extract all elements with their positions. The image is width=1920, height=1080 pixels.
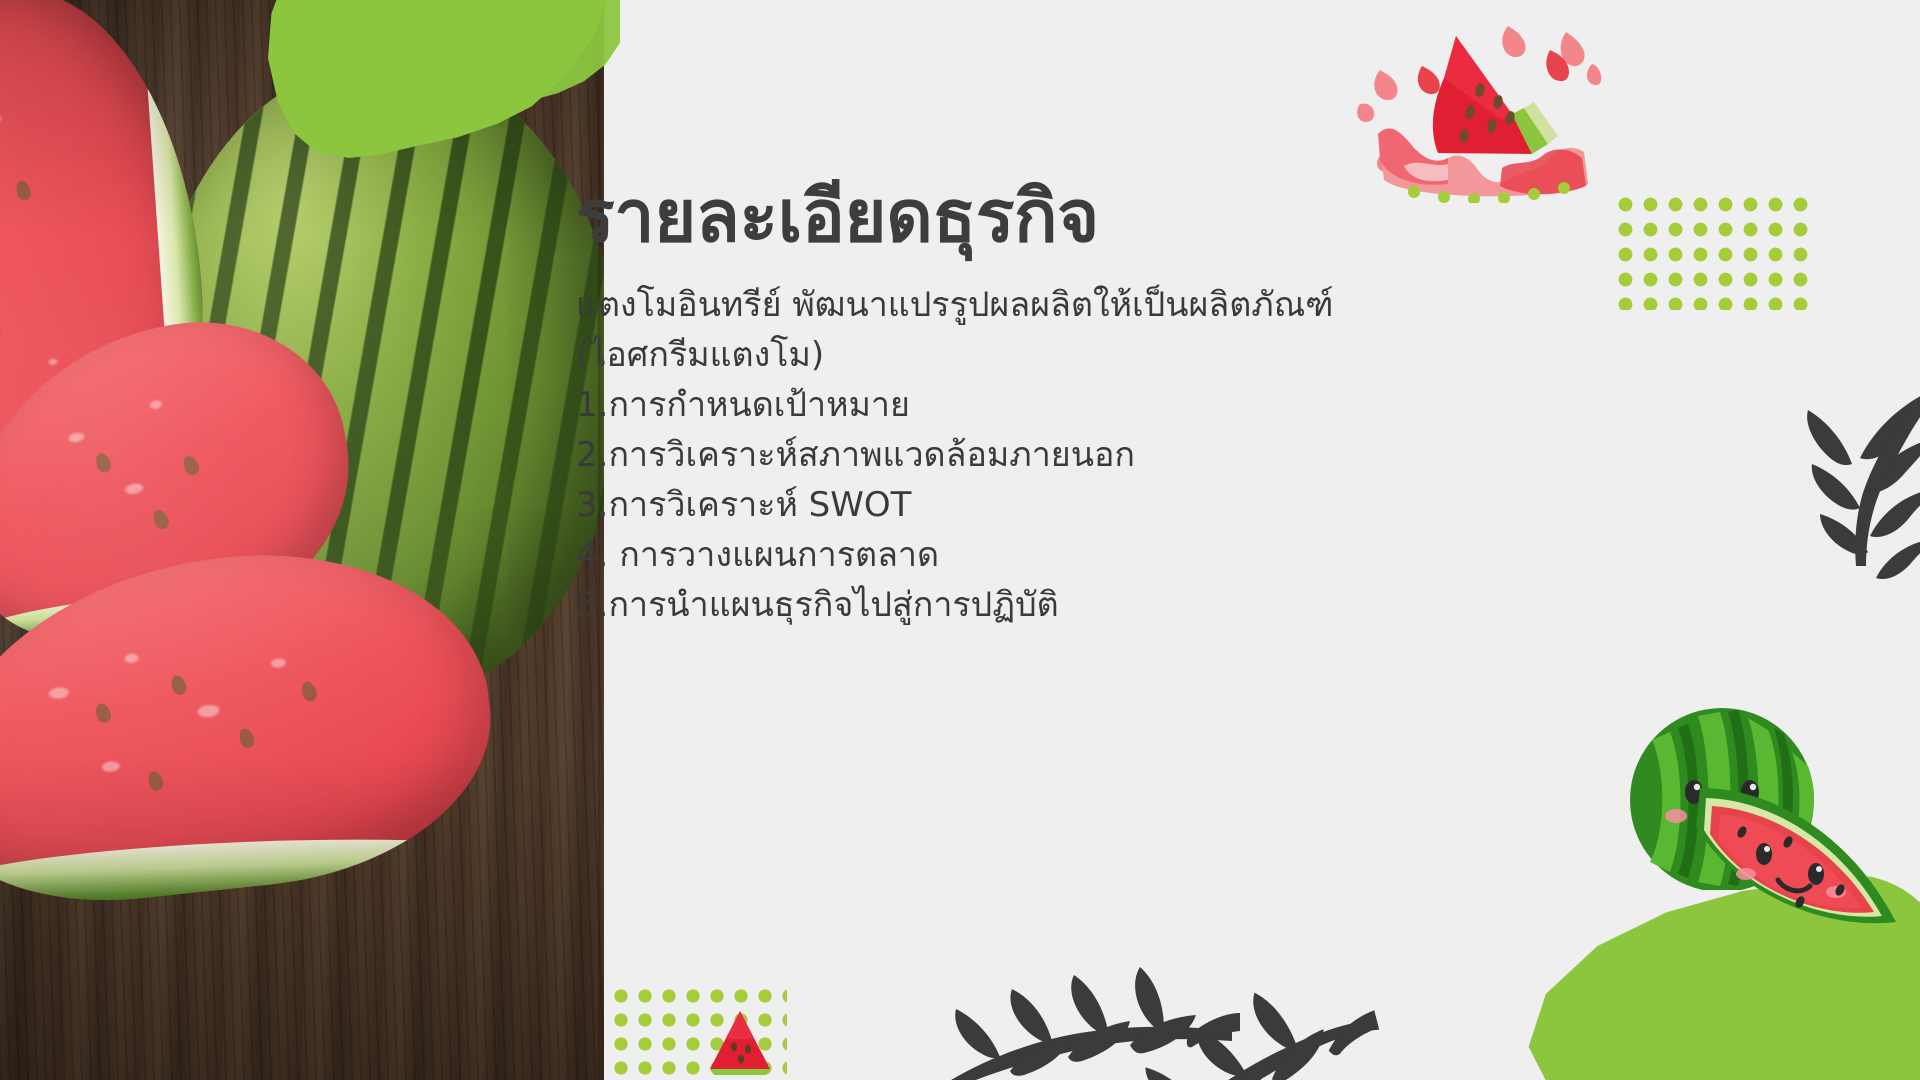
halftone-dot-grid-top-right [1613, 192, 1813, 310]
leaf-silhouette-right [1778, 386, 1920, 606]
watermelon-photo [0, 0, 604, 1080]
body-line: 2.การวิเคราะห์สภาพแวดล้อมภายนอก [576, 430, 1576, 480]
body-text-block: แตงโมอินทรีย์ พัฒนาแปรรูปผลผลิตให้เป็นผล… [576, 280, 1576, 630]
slide-content: รายละเอียดธุรกิจ แตงโมอินทรีย์ พัฒนาแปรร… [576, 178, 1576, 630]
slide-canvas: รายละเอียดธุรกิจ แตงโมอินทรีย์ พัฒนาแปรร… [0, 0, 1920, 1080]
body-line: 5.การนำแผนธุรกิจไปสู่การปฏิบัติ [576, 580, 1576, 630]
page-title: รายละเอียดธุรกิจ [576, 178, 1576, 256]
body-line: (ไอศกรีมแตงโม) [576, 330, 1576, 380]
mini-watermelon-slice-icon [706, 1009, 774, 1080]
body-line: 3.การวิเคราะห์ SWOT [576, 480, 1576, 530]
body-line: 4. การวางแผนการตลาด [576, 530, 1576, 580]
body-line: 1.การกำหนดเป้าหมาย [576, 380, 1576, 430]
body-line: แตงโมอินทรีย์ พัฒนาแปรรูปผลผลิตให้เป็นผล… [576, 280, 1576, 330]
photo-vignette [0, 0, 604, 1080]
cute-watermelon-slice-face-icon [1690, 770, 1905, 935]
